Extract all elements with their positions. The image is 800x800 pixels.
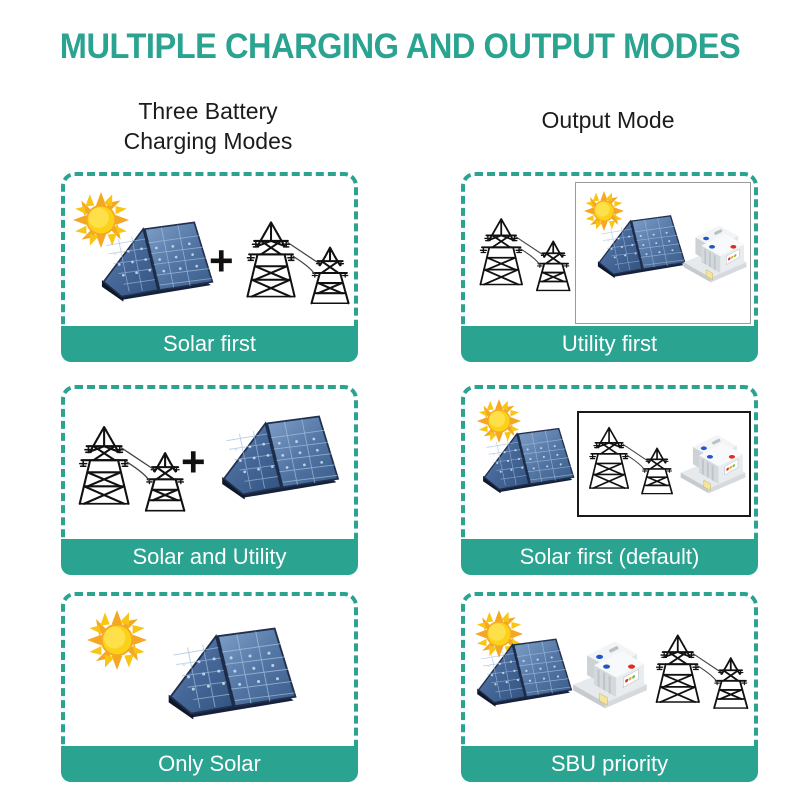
solar-panel-icon — [479, 423, 579, 499]
card-sbu-priority-label: SBU priority — [461, 746, 758, 782]
card-only-solar-scene — [65, 596, 354, 746]
card-sbu-priority-scene — [465, 596, 754, 746]
card-utility-first-scene — [465, 176, 754, 326]
card-solar-first-label: Solar first — [61, 326, 358, 362]
battery-bank-icon — [677, 419, 749, 497]
card-sbu-priority-body — [461, 592, 758, 746]
plus-sign: + — [209, 240, 234, 282]
card-solar-and-utility-label: Solar and Utility — [61, 539, 358, 575]
column-heading-charging: Three Battery Charging Modes — [58, 96, 358, 157]
sun-icon — [87, 610, 147, 670]
solar-panel-icon — [97, 218, 219, 306]
card-solar-first[interactable]: + Solar first — [61, 172, 358, 362]
card-only-solar-label: Only Solar — [61, 746, 358, 782]
card-solar-first-default[interactable]: Solar first (default) — [461, 385, 758, 575]
card-solar-first-default-scene — [465, 389, 754, 539]
card-only-solar-body — [61, 592, 358, 746]
card-solar-first-default-body — [461, 385, 758, 539]
card-utility-first-body — [461, 172, 758, 326]
solar-panel-icon — [163, 622, 303, 726]
card-only-solar[interactable]: Only Solar — [61, 592, 358, 782]
card-solar-and-utility-body: + — [61, 385, 358, 539]
output-group-box — [577, 411, 751, 517]
plus-sign: + — [181, 441, 206, 483]
solar-panel-icon — [594, 211, 690, 283]
power-tower-icon — [71, 415, 193, 521]
card-utility-first-label: Utility first — [461, 326, 758, 362]
power-tower-icon — [239, 210, 357, 314]
battery-bank-icon — [680, 211, 750, 285]
power-tower-icon — [649, 624, 755, 718]
card-utility-first[interactable]: Utility first — [461, 172, 758, 362]
power-tower-icon — [473, 208, 577, 300]
column-heading-charging-line2: Charging Modes — [58, 126, 358, 156]
page-title: MULTIPLE CHARGING AND OUTPUT MODES — [28, 27, 772, 67]
card-solar-first-body: + — [61, 172, 358, 326]
card-solar-and-utility-scene: + — [65, 389, 354, 539]
solar-panel-icon — [217, 411, 345, 505]
card-solar-first-scene: + — [65, 176, 354, 326]
power-tower-icon — [583, 417, 679, 503]
output-group-box — [575, 182, 751, 324]
column-heading-output: Output Mode — [458, 105, 758, 135]
card-solar-first-default-label: Solar first (default) — [461, 539, 758, 575]
card-sbu-priority[interactable]: SBU priority — [461, 592, 758, 782]
battery-bank-icon — [569, 624, 651, 712]
card-solar-and-utility[interactable]: + Solar and Utility — [61, 385, 358, 575]
column-heading-charging-line1: Three Battery — [58, 96, 358, 126]
solar-panel-icon — [473, 634, 577, 712]
